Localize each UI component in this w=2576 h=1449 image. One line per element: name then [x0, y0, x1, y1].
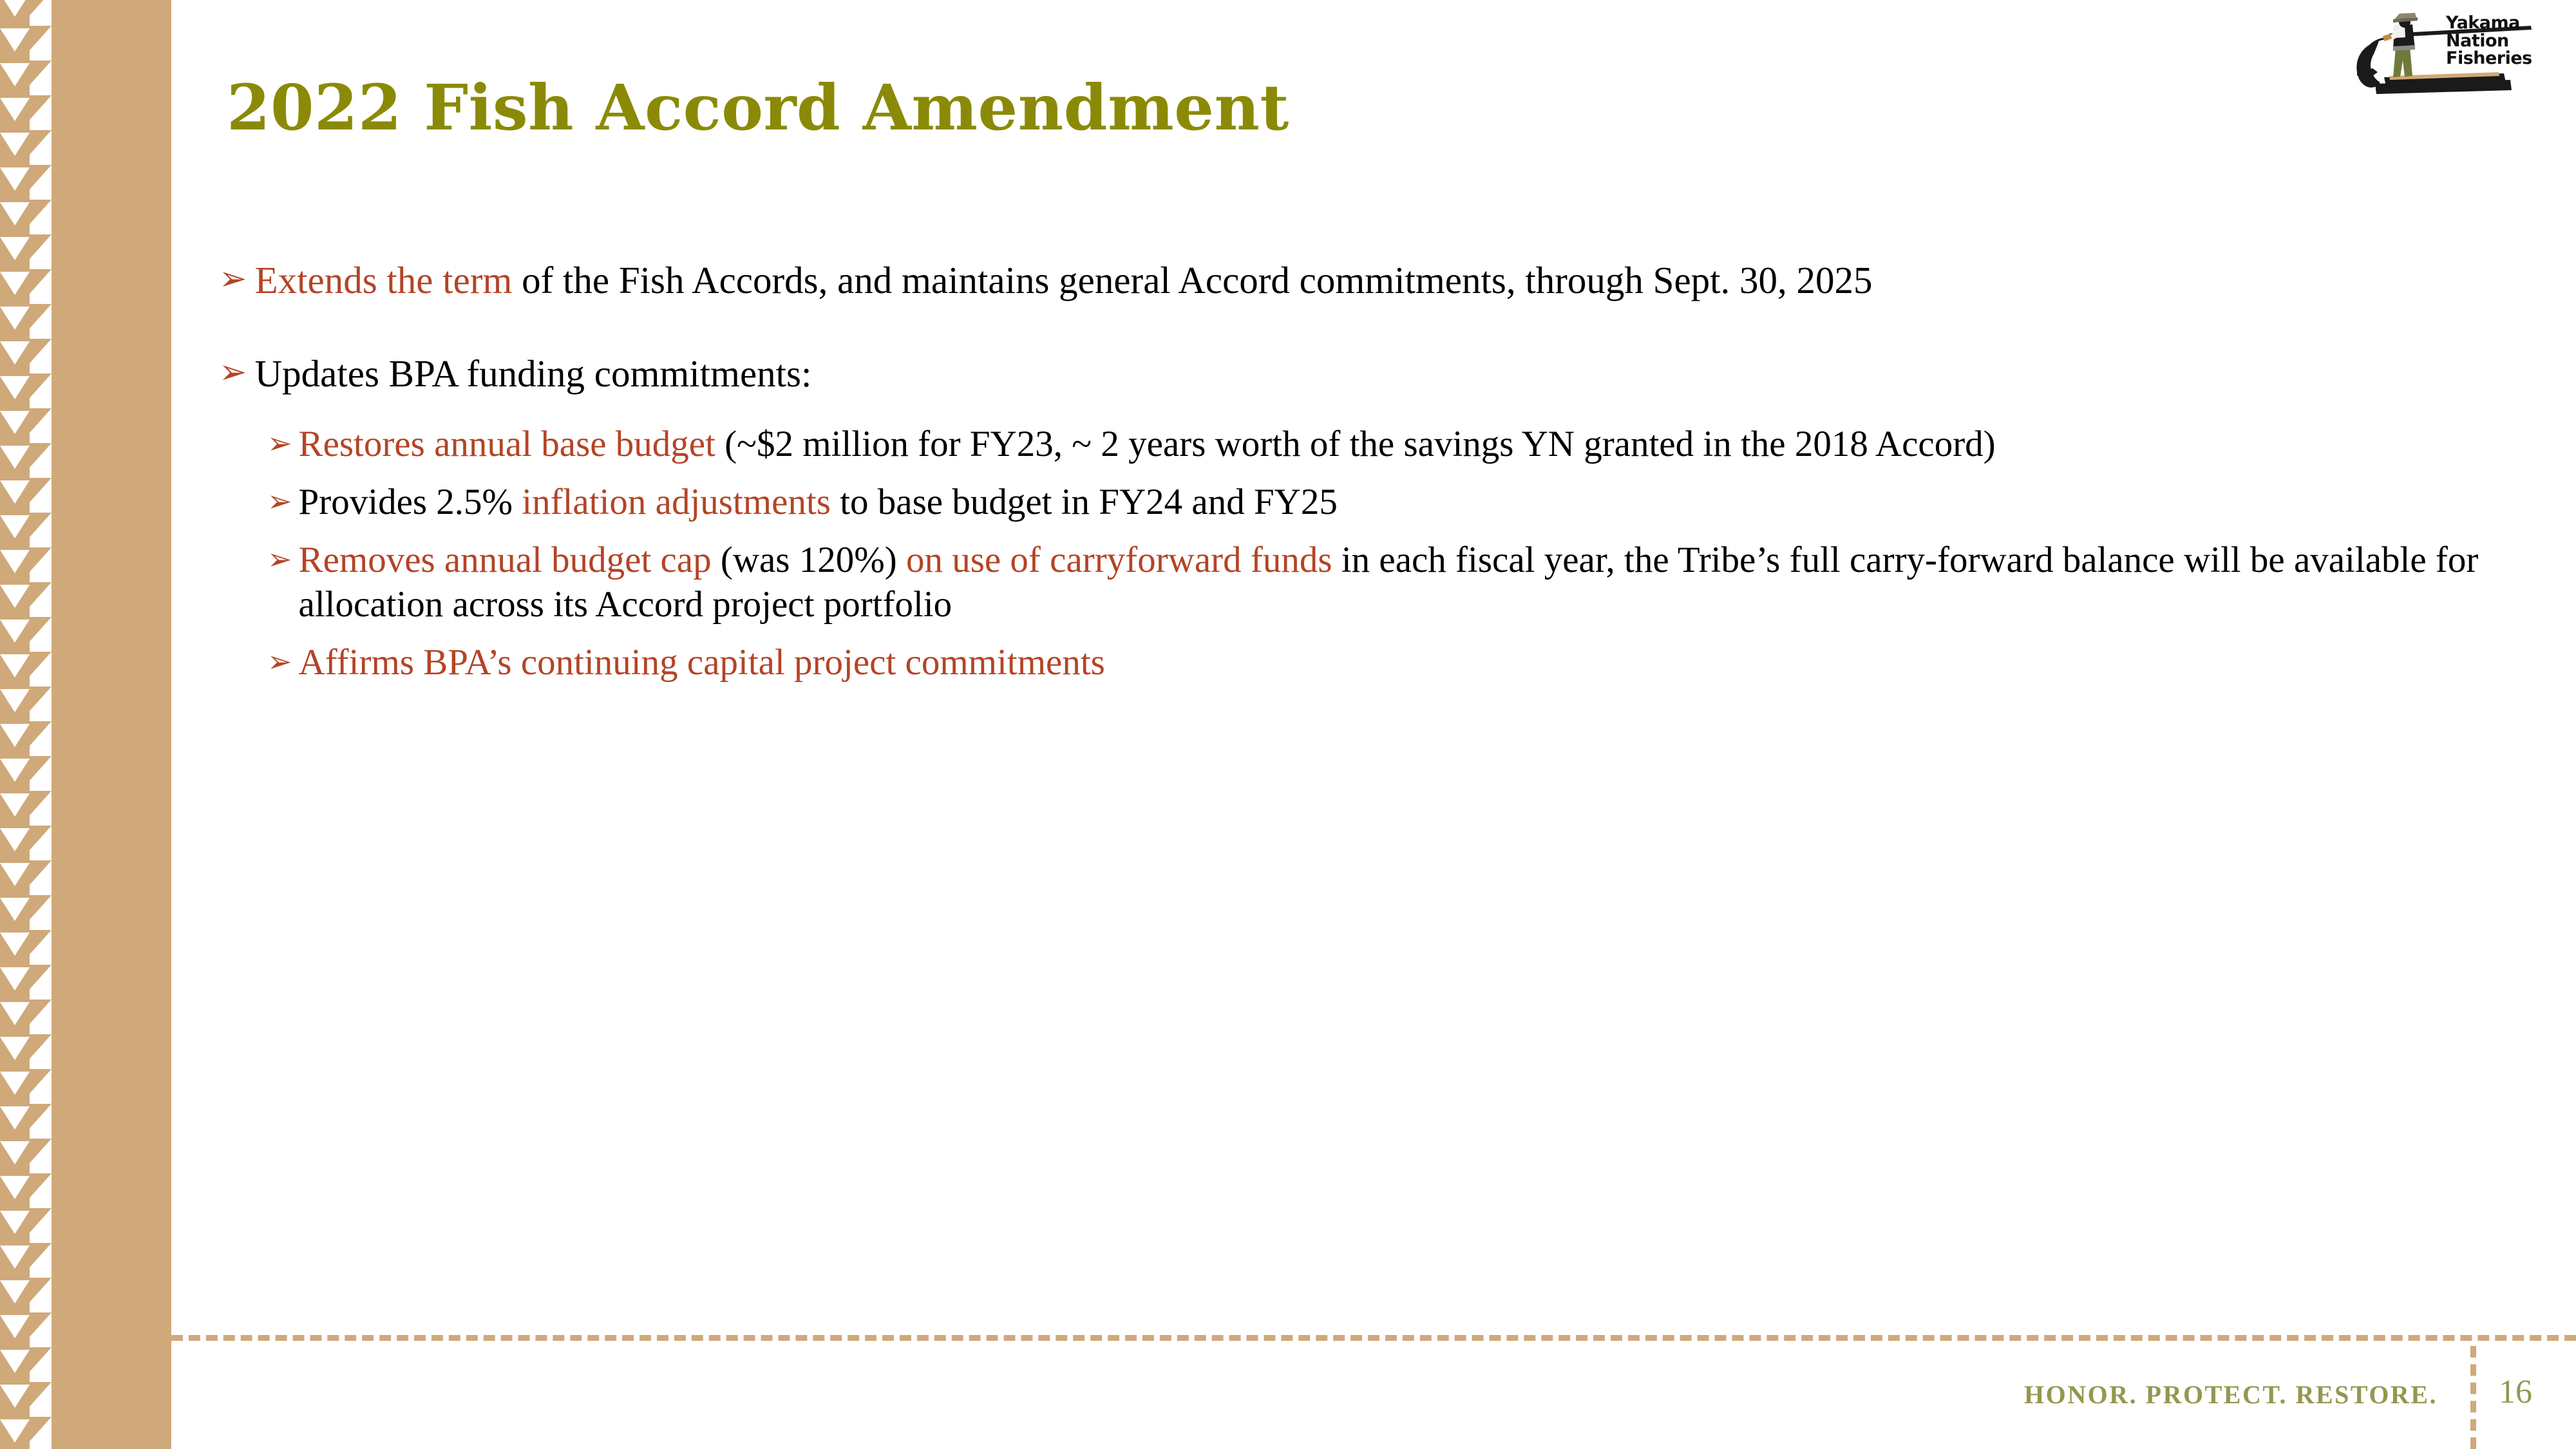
- bullet-item: ➢Restores annual base budget (~$2 millio…: [267, 422, 2512, 466]
- bullet-text-run: inflation adjustments: [522, 482, 831, 522]
- bullet-list: ➢ Extends the term of the Fish Accords, …: [219, 258, 2512, 699]
- border-sawtooth: [30, 478, 52, 502]
- border-triangle: [0, 585, 30, 608]
- border-sawtooth: [30, 234, 52, 259]
- border-triangle: [0, 133, 30, 156]
- bullet-text-run: Removes annual budget cap: [299, 540, 712, 580]
- border-triangle: [0, 98, 30, 121]
- bullet-text: Affirms BPA’s continuing capital project…: [299, 641, 2512, 685]
- border-sawtooth: [30, 1139, 52, 1163]
- border-triangle: [0, 793, 30, 817]
- border-triangle: [0, 1002, 30, 1025]
- border-triangle: [0, 724, 30, 747]
- border-triangle: [0, 654, 30, 677]
- border-triangle: [0, 933, 30, 956]
- bullet-item: ➢Removes annual budget cap (was 120%) on…: [267, 538, 2512, 627]
- border-solid-band: [52, 0, 171, 1449]
- border-triangle: [0, 1245, 30, 1269]
- border-sawtooth: [30, 26, 52, 50]
- bullet-arrow-icon: ➢: [219, 258, 247, 301]
- border-sawtooth: [30, 1347, 52, 1372]
- border-triangle: [0, 863, 30, 886]
- border-triangle: [0, 0, 30, 17]
- border-sawtooth: [30, 860, 52, 885]
- border-triangle-column: [0, 0, 30, 1449]
- border-sawtooth: [30, 130, 52, 155]
- footer-divider-vertical: [2470, 1346, 2476, 1449]
- logo-line-1: Yakama: [2446, 14, 2532, 32]
- border-sawtooth: [30, 1278, 52, 1302]
- logo-line-3: Fisheries: [2446, 50, 2532, 68]
- border-triangle: [0, 28, 30, 52]
- border-sawtooth: [30, 374, 52, 398]
- border-triangle: [0, 376, 30, 399]
- border-sawtooth: [30, 1208, 52, 1233]
- border-triangle: [0, 1385, 30, 1408]
- border-sawtooth: [30, 547, 52, 572]
- footer-divider-horizontal: [171, 1335, 2576, 1341]
- border-sawtooth: [30, 1382, 52, 1406]
- border-triangle: [0, 411, 30, 434]
- border-triangle: [0, 689, 30, 712]
- bullet-text: Extends the term of the Fish Accords, an…: [255, 258, 2512, 303]
- border-sawtooth: [30, 721, 52, 746]
- border-triangle: [0, 202, 30, 225]
- border-sawtooth: [30, 652, 52, 676]
- bullet-text-run: on use of carryforward funds: [906, 540, 1332, 580]
- bullet-text: Restores annual base budget (~$2 million…: [299, 422, 2512, 466]
- border-triangle: [0, 550, 30, 573]
- border-triangle: [0, 167, 30, 191]
- bullet-text-run: Extends the term: [255, 259, 513, 301]
- footer-tagline: HONOR. PROTECT. RESTORE.: [2024, 1379, 2438, 1410]
- border-triangle: [0, 480, 30, 504]
- border-sawtooth: [30, 1069, 52, 1094]
- border-triangle: [0, 63, 30, 86]
- bullet-text-run: Affirms BPA’s continuing capital project…: [299, 642, 1105, 683]
- border-triangle: [0, 828, 30, 851]
- border-sawtooth: [30, 513, 52, 537]
- bullet-arrow-icon: ➢: [267, 422, 292, 464]
- bullet-text: Updates BPA funding commitments:: [255, 351, 2512, 397]
- bullet-text-run: to base budget in FY24 and FY25: [831, 482, 1338, 522]
- border-triangle: [0, 898, 30, 921]
- border-sawtooth: [30, 61, 52, 85]
- bullet-text-run: Restores annual base budget: [299, 424, 715, 464]
- bullet-item: ➢Provides 2.5% inflation adjustments to …: [267, 480, 2512, 524]
- bullet-item: ➢ Extends the term of the Fish Accords, …: [219, 258, 2512, 303]
- border-triangle: [0, 237, 30, 260]
- bullet-text-run: (was 120%): [712, 540, 906, 580]
- border-triangle: [0, 967, 30, 990]
- border-sawtooth: [30, 165, 52, 189]
- border-sawtooth: [30, 965, 52, 989]
- slide-canvas: Yakama Nation Fisheries 2022 Fish Accord…: [0, 0, 2576, 1449]
- border-triangle: [0, 1315, 30, 1338]
- border-triangle: [0, 759, 30, 782]
- border-sawtooth: [30, 95, 52, 120]
- bullet-text-run: Provides 2.5%: [299, 482, 522, 522]
- bullet-arrow-icon: ➢: [267, 480, 292, 522]
- border-triangle: [0, 341, 30, 365]
- bullet-text-run: of the Fish Accords, and maintains gener…: [512, 259, 1872, 301]
- bullet-spacer: [219, 329, 2512, 351]
- bullet-text: Provides 2.5% inflation adjustments to b…: [299, 480, 2512, 524]
- border-sawtooth: [30, 687, 52, 711]
- border-triangle: [0, 1106, 30, 1130]
- border-sawtooth: [30, 756, 52, 781]
- border-triangle: [0, 446, 30, 469]
- left-decorative-border: [0, 0, 171, 1449]
- border-triangle: [0, 1280, 30, 1303]
- bullet-text: Removes annual budget cap (was 120%) on …: [299, 538, 2512, 627]
- border-sawtooth: [30, 0, 52, 15]
- bullet-arrow-icon: ➢: [267, 538, 292, 580]
- border-triangle: [0, 1419, 30, 1443]
- border-sawtooth: [30, 930, 52, 954]
- border-sawtooth: [30, 1104, 52, 1128]
- border-sawtooth: [30, 1243, 52, 1267]
- bullet-item: ➢Affirms BPA’s continuing capital projec…: [267, 641, 2512, 685]
- border-triangle: [0, 1072, 30, 1095]
- border-sawtooth: [30, 826, 52, 850]
- border-triangle: [0, 620, 30, 643]
- border-sawtooth: [30, 1173, 52, 1198]
- bullet-text-run: Updates BPA funding commitments:: [255, 352, 812, 395]
- yakama-nation-fisheries-logo: Yakama Nation Fisheries: [2338, 5, 2563, 95]
- bullet-arrow-icon: ➢: [267, 641, 292, 682]
- border-triangle: [0, 272, 30, 295]
- border-sawtooth: [30, 791, 52, 815]
- page-number: 16: [2499, 1373, 2532, 1411]
- border-sawtooth: [30, 617, 52, 641]
- border-sawtooth-column: [30, 0, 52, 1449]
- border-sawtooth: [30, 269, 52, 294]
- border-sawtooth: [30, 895, 52, 920]
- border-sawtooth: [30, 999, 52, 1024]
- slide-title: 2022 Fish Accord Amendment: [227, 71, 1289, 144]
- border-triangle: [0, 1141, 30, 1164]
- bullet-text-run: (~$2 million for FY23, ~ 2 years worth o…: [715, 424, 1996, 464]
- border-triangle: [0, 1176, 30, 1199]
- border-sawtooth: [30, 1312, 52, 1337]
- bullet-item: ➢Updates BPA funding commitments:: [219, 351, 2512, 397]
- border-sawtooth: [30, 1034, 52, 1059]
- border-sawtooth: [30, 582, 52, 607]
- border-sawtooth: [30, 408, 52, 433]
- logo-text-block: Yakama Nation Fisheries: [2446, 14, 2532, 68]
- border-sawtooth: [30, 339, 52, 363]
- border-sawtooth: [30, 443, 52, 468]
- logo-line-2: Nation: [2446, 32, 2532, 50]
- border-sawtooth: [30, 200, 52, 224]
- border-triangle: [0, 1350, 30, 1373]
- border-sawtooth: [30, 304, 52, 328]
- border-triangle: [0, 515, 30, 538]
- border-triangle: [0, 1037, 30, 1060]
- bullet-arrow-icon: ➢: [219, 351, 247, 394]
- border-triangle: [0, 1211, 30, 1234]
- border-sawtooth: [30, 1417, 52, 1441]
- border-triangle: [0, 307, 30, 330]
